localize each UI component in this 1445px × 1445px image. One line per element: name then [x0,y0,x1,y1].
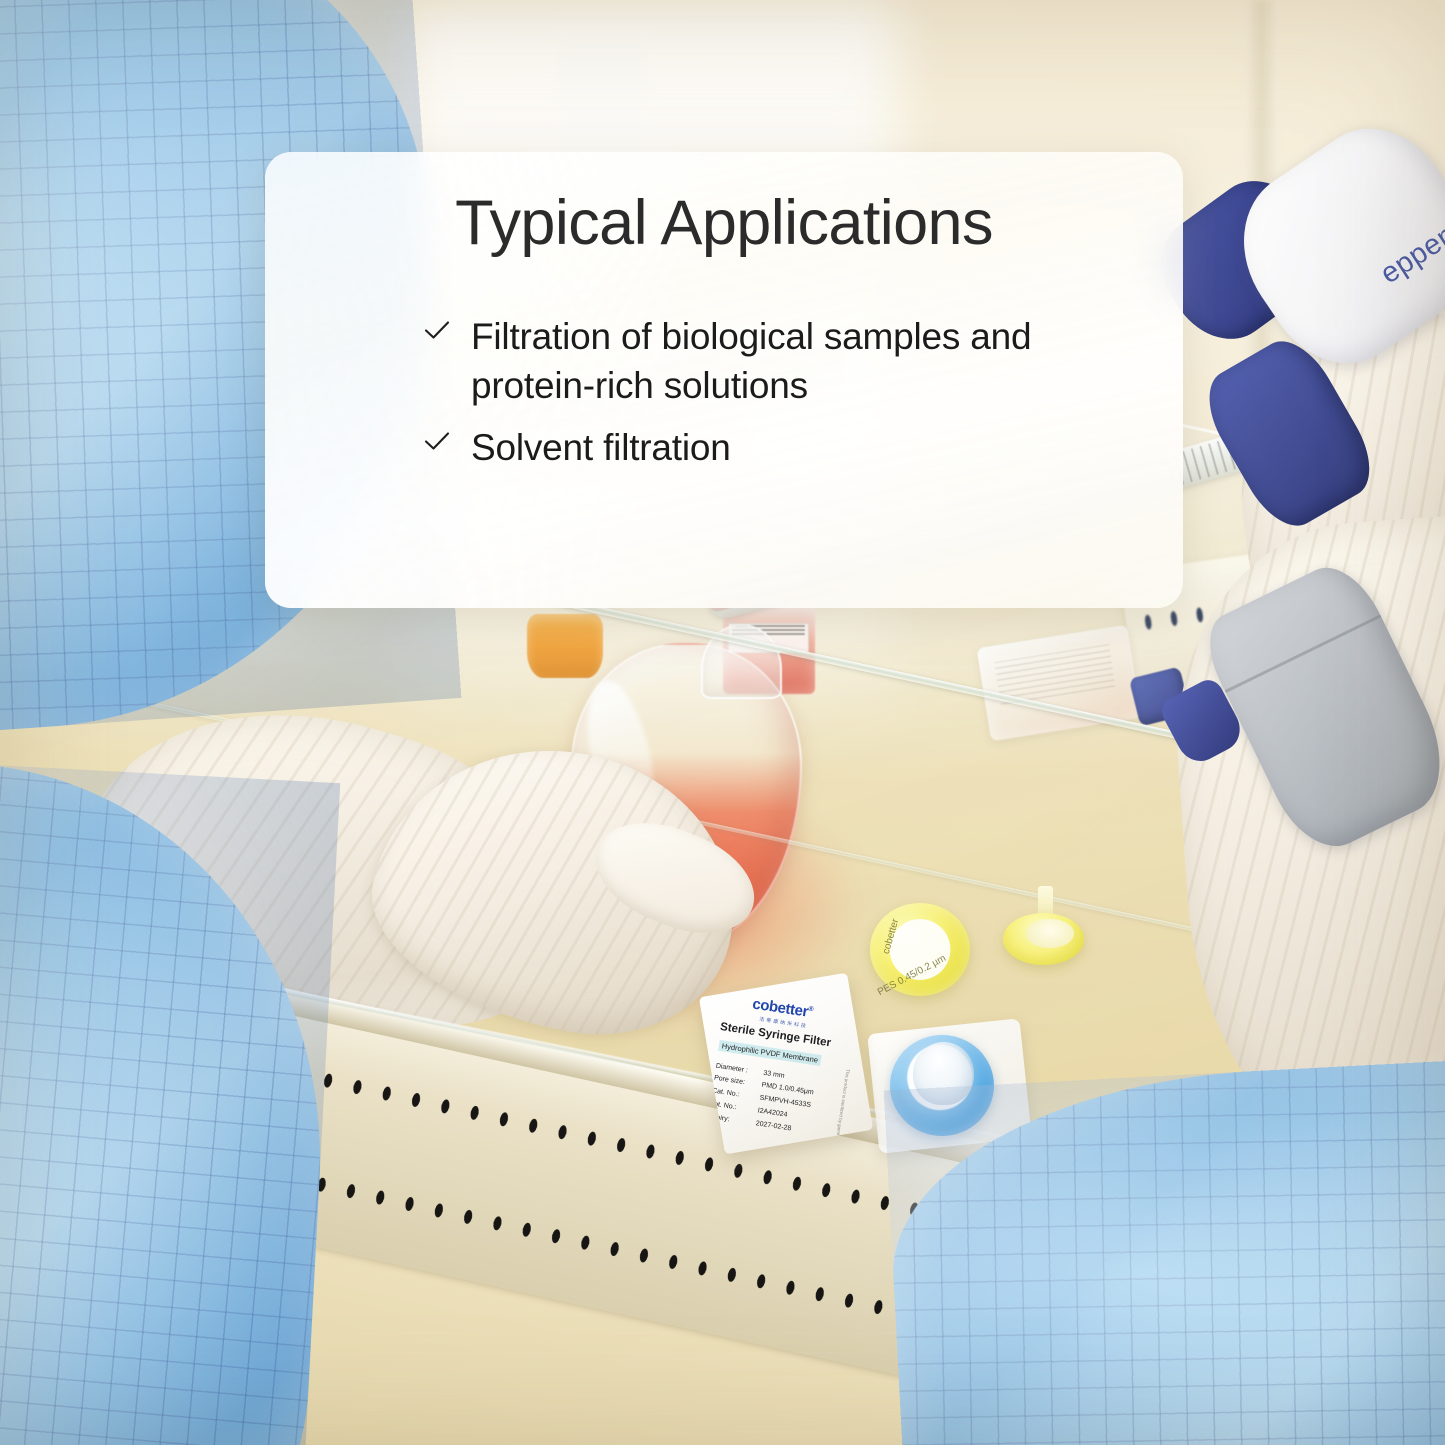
list-item: Solvent filtration [423,424,1129,473]
card-content: Typical Applications Filtration of biolo… [265,152,1183,473]
list-item-label: Solvent filtration [471,424,731,473]
check-icon [423,313,451,347]
list-item: Filtration of biological samples and pro… [423,313,1129,411]
page-title: Typical Applications [319,190,1129,257]
typical-applications-card: Typical Applications Filtration of biolo… [265,152,1183,608]
screenshot-root: cobetter PES 0.45/0.2 µm cobetter® 洁蒂康纳米… [0,0,1445,1445]
list-item-label: Filtration of biological samples and pro… [471,313,1129,411]
check-icon [423,424,451,458]
applications-list: Filtration of biological samples and pro… [319,313,1129,473]
